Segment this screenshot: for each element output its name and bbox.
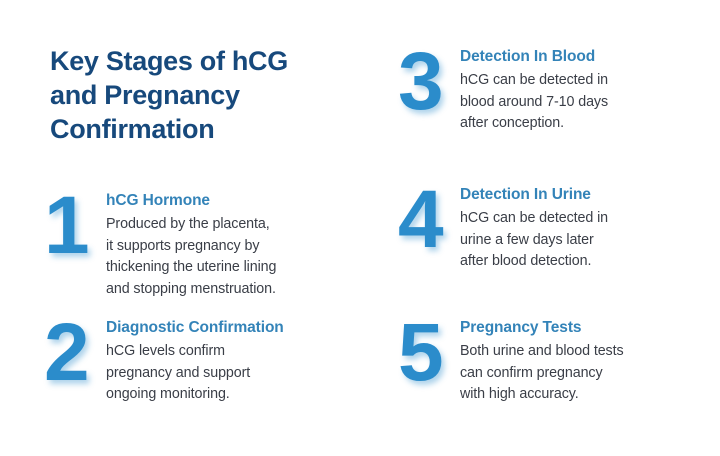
- stage-text-4: Detection In Urine hCG can be detected i…: [460, 180, 720, 273]
- stage-body-4-line-1: hCG can be detected in: [460, 208, 720, 230]
- stage-text-2: Diagnostic Confirmation hCG levels confi…: [106, 313, 374, 406]
- stage-heading-1: hCG Hormone: [106, 191, 374, 211]
- stage-body-1-line-1: Produced by the placenta,: [106, 214, 374, 236]
- stage-body-5-line-2: can confirm pregnancy: [460, 363, 720, 385]
- stage-number-4: 4: [398, 180, 460, 260]
- stage-body-2-line-2: pregnancy and support: [106, 363, 374, 385]
- stage-body-1-line-4: and stopping menstruation.: [106, 279, 374, 301]
- stage-body-3-line-1: hCG can be detected in: [460, 70, 720, 92]
- stage-body-3-line-2: blood around 7-10 days: [460, 92, 720, 114]
- page-title: Key Stages of hCG and Pregnancy Confirma…: [50, 44, 370, 146]
- page-title-line-2: and Pregnancy: [50, 78, 370, 112]
- stage-item-1: 1 hCG Hormone Produced by the placenta, …: [44, 186, 374, 300]
- stage-body-2-line-3: ongoing monitoring.: [106, 384, 374, 406]
- stage-item-4: 4 Detection In Urine hCG can be detected…: [398, 180, 720, 273]
- stage-body-5-line-3: with high accuracy.: [460, 384, 720, 406]
- stage-text-1: hCG Hormone Produced by the placenta, it…: [106, 186, 374, 300]
- stage-body-3-line-3: after conception.: [460, 113, 720, 135]
- stage-heading-2: Diagnostic Confirmation: [106, 318, 374, 338]
- stage-body-1: Produced by the placenta, it supports pr…: [106, 214, 374, 300]
- stage-number-1: 1: [44, 186, 106, 266]
- stage-item-3: 3 Detection In Blood hCG can be detected…: [398, 42, 720, 135]
- infographic-canvas: Key Stages of hCG and Pregnancy Confirma…: [0, 0, 720, 456]
- stage-body-1-line-3: thickening the uterine lining: [106, 257, 374, 279]
- stage-body-4-line-2: urine a few days later: [460, 230, 720, 252]
- stage-item-5: 5 Pregnancy Tests Both urine and blood t…: [398, 313, 720, 406]
- stage-text-3: Detection In Blood hCG can be detected i…: [460, 42, 720, 135]
- stage-body-2: hCG levels confirm pregnancy and support…: [106, 341, 374, 406]
- stage-text-5: Pregnancy Tests Both urine and blood tes…: [460, 313, 720, 406]
- stage-body-4: hCG can be detected in urine a few days …: [460, 208, 720, 273]
- stage-body-2-line-1: hCG levels confirm: [106, 341, 374, 363]
- stage-heading-5: Pregnancy Tests: [460, 318, 720, 338]
- stage-heading-3: Detection In Blood: [460, 47, 720, 67]
- page-title-line-3: Confirmation: [50, 112, 370, 146]
- page-title-line-1: Key Stages of hCG: [50, 44, 370, 78]
- stage-number-3: 3: [398, 42, 460, 122]
- stage-heading-4: Detection In Urine: [460, 185, 720, 205]
- stage-number-2: 2: [44, 313, 106, 393]
- stage-item-2: 2 Diagnostic Confirmation hCG levels con…: [44, 313, 374, 406]
- stage-body-4-line-3: after blood detection.: [460, 251, 720, 273]
- stage-body-1-line-2: it supports pregnancy by: [106, 236, 374, 258]
- stage-body-5-line-1: Both urine and blood tests: [460, 341, 720, 363]
- stage-body-5: Both urine and blood tests can confirm p…: [460, 341, 720, 406]
- stage-number-5: 5: [398, 313, 460, 393]
- stage-body-3: hCG can be detected in blood around 7-10…: [460, 70, 720, 135]
